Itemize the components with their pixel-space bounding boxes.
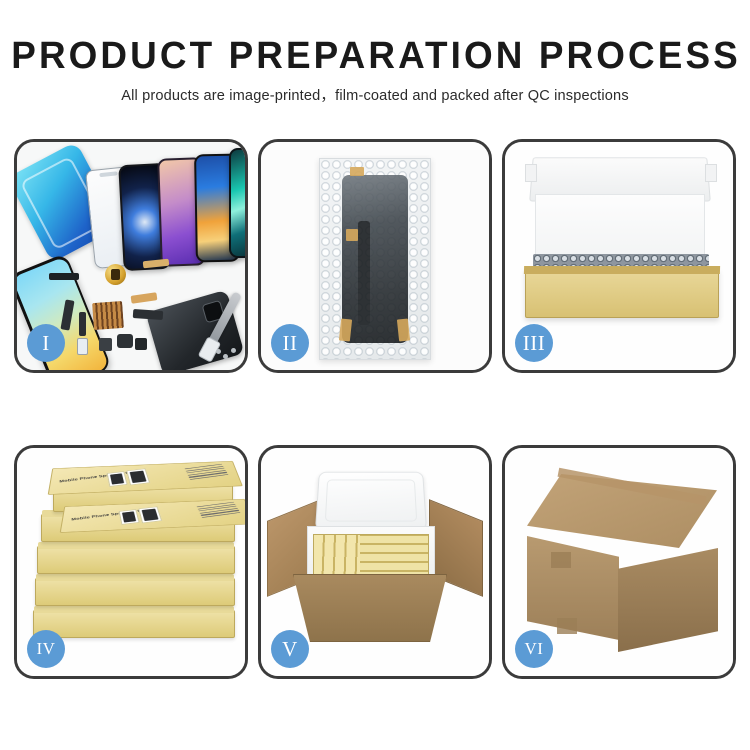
foam-box-lid [315,472,427,531]
carton-tape-patch-top [551,552,571,568]
page-subtitle: All products are image-printed，film-coat… [0,86,750,106]
retail-box-5 [33,610,235,638]
process-step-1: I [14,139,248,373]
box-label-thumb-4 [138,506,162,523]
flex-cable-4 [133,309,164,320]
small-component-1 [99,338,112,351]
page-title: PRODUCT PREPARATION PROCESS [11,34,739,78]
box-label-thumb-2 [126,468,150,485]
box-stack: Mobile Phone Spare Parts Mobile Phone Sp… [33,472,233,656]
box-label-speclines-top [185,464,229,482]
kraft-box-base [525,268,719,318]
wrapped-lcd-screen [342,175,408,343]
product-preparation-infographic: PRODUCT PREPARATION PROCESS All products… [0,0,750,750]
screw-2 [231,348,236,353]
flex-cable-3 [131,292,158,304]
small-component-2 [117,334,133,348]
lid-tab-right [705,164,717,182]
process-grid: I II [14,139,736,679]
step-badge-2: II [271,324,309,362]
bubble-wrap-bag [319,158,431,360]
process-step-3: III [502,139,736,373]
step-badge-4: IV [27,630,65,668]
tape-strip-1 [350,167,364,176]
vibration-motor-part [105,264,126,285]
box-label-thumb-3 [119,509,140,525]
retail-box-3 [37,546,235,574]
carton-tape-patch-bottom [557,618,577,634]
tape-strip-4 [397,318,410,341]
header: PRODUCT PREPARATION PROCESS All products… [0,34,750,106]
step-badge-1: I [27,324,65,362]
carton-right-face [618,548,718,652]
screw-1 [223,354,228,359]
box-label-thumb-1 [107,471,128,487]
flex-cable-2 [79,312,86,336]
tape-strip-3 [339,318,352,341]
screw-3 [216,349,221,354]
box-label-speclines-front [197,502,241,520]
step-badge-6: VI [515,630,553,668]
carton-front-panel [293,574,447,642]
tape-strip-2 [346,229,358,241]
small-component-3 [77,338,88,355]
step-badge-3: III [515,324,553,362]
small-component-4 [135,338,147,350]
process-step-6: VI [502,445,736,679]
retail-boxes-inside [313,534,429,580]
process-step-4: Mobile Phone Spare Parts Mobile Phone Sp… [14,445,248,679]
lid-tab-left [525,164,537,182]
step-badge-5: V [271,630,309,668]
battery-connector-part [49,273,79,280]
chip-grid-part [92,301,124,330]
phone-device-4 [229,148,245,258]
retail-box-4 [35,578,235,606]
process-step-5: V [258,445,492,679]
process-step-2: II [258,139,492,373]
